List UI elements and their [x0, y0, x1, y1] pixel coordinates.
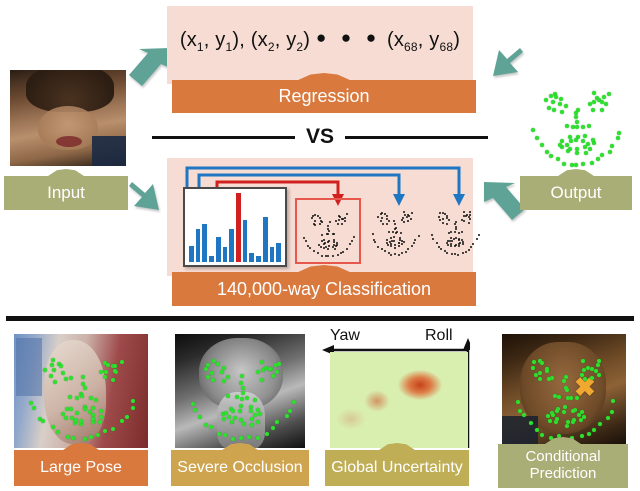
landmark-point — [407, 220, 409, 222]
landmark-point — [544, 98, 548, 102]
landmark-point — [401, 219, 403, 221]
landmark-point — [79, 419, 83, 423]
landmark-point — [131, 399, 135, 403]
landmark-point — [602, 95, 606, 99]
landmark-point — [75, 411, 79, 415]
landmark-point — [406, 216, 408, 218]
landmark-point — [341, 223, 343, 225]
landmark-point — [469, 214, 471, 216]
regression-label: Regression — [278, 86, 369, 107]
landmark-point — [411, 212, 413, 214]
landmark-point — [256, 408, 260, 412]
landmark-point — [584, 151, 588, 155]
landmark-point — [238, 409, 242, 413]
landmark-point — [570, 163, 574, 167]
arrow-regression-to-output-icon — [478, 44, 526, 96]
landmark-point — [342, 251, 344, 253]
landmark-point — [575, 125, 579, 129]
landmark-point — [468, 222, 470, 224]
histogram-bar — [263, 217, 268, 262]
landmark-point — [448, 219, 450, 221]
landmark-point — [469, 211, 471, 213]
landmark-point — [71, 436, 75, 440]
severe-occlusion-photo — [175, 334, 305, 448]
landmark-point — [198, 415, 202, 419]
landmark-point — [125, 415, 129, 419]
landmark-point — [94, 398, 98, 402]
landmark-point — [565, 424, 569, 428]
landmark-point — [549, 154, 553, 158]
landmark-point — [292, 400, 296, 404]
landmark-point — [596, 363, 600, 367]
landmark-point — [592, 91, 596, 95]
landmark-point — [574, 163, 578, 167]
formula-seg-e: ) — [303, 29, 310, 51]
landmark-point — [222, 366, 226, 370]
landmark-point — [50, 363, 54, 367]
landmark-point — [327, 255, 329, 257]
landmark-point — [598, 422, 602, 426]
landmark-point — [337, 254, 339, 256]
landmark-point — [377, 246, 379, 248]
landmark-point — [261, 368, 265, 372]
landmark-point — [337, 223, 339, 225]
landmark-point — [432, 238, 434, 240]
vs-rule-left — [152, 136, 295, 139]
landmark-point — [239, 418, 243, 422]
landmark-point — [111, 378, 115, 382]
landmark-point — [468, 249, 470, 251]
landmark-point — [390, 254, 392, 256]
landmark-point — [256, 370, 260, 374]
conditional-prediction-label-line2: Prediction — [526, 466, 601, 483]
landmark-point — [551, 100, 555, 104]
output-label: Output — [546, 183, 605, 202]
histogram-bar — [229, 229, 234, 262]
landmark-point — [83, 407, 87, 411]
landmark-point — [616, 136, 620, 140]
landmark-point — [319, 217, 321, 219]
landmark-point — [453, 238, 455, 240]
input-face-photo — [10, 70, 126, 166]
landmark-point — [381, 217, 383, 219]
landmark-point — [607, 92, 611, 96]
landmark-point — [41, 419, 45, 423]
histogram-bar — [236, 193, 241, 262]
landmark-point — [394, 223, 396, 225]
landmark-point — [83, 386, 87, 390]
landmark-point — [540, 143, 544, 147]
template-face-2 — [365, 198, 423, 260]
landmark-point — [353, 236, 355, 238]
landmark-point — [314, 220, 316, 222]
landmark-point — [458, 245, 460, 247]
histogram-bar — [249, 253, 254, 262]
landmark-point — [386, 242, 388, 244]
severe-occlusion-label: Severe Occlusion — [173, 459, 306, 477]
landmark-point — [455, 237, 457, 239]
landmark-point — [275, 370, 279, 374]
landmark-point — [556, 157, 560, 161]
landmark-point — [458, 232, 460, 234]
landmark-point — [333, 233, 335, 235]
landmark-point — [388, 231, 390, 233]
landmark-point — [393, 240, 395, 242]
landmark-point — [226, 375, 230, 379]
landmark-point — [565, 143, 569, 147]
landmark-point — [610, 410, 614, 414]
landmark-point — [604, 102, 608, 106]
conditional-prediction-photo: ✖ — [502, 334, 626, 448]
landmark-point — [583, 145, 587, 149]
landmark-point — [617, 131, 621, 135]
landmark-point — [288, 409, 292, 413]
landmark-point — [540, 433, 544, 437]
landmark-point — [103, 429, 107, 433]
landmark-point — [606, 416, 610, 420]
landmark-point — [587, 124, 591, 128]
landmark-point — [96, 433, 100, 437]
histogram-bar — [270, 247, 275, 262]
landmark-point — [465, 251, 467, 253]
landmark-point — [239, 436, 243, 440]
landmark-point — [574, 115, 578, 119]
landmark-point — [384, 250, 386, 252]
landmark-point — [575, 151, 579, 155]
formula-seg-d: , y — [275, 29, 297, 51]
landmark-point — [390, 237, 392, 239]
landmark-point — [103, 375, 107, 379]
landmark-point — [388, 220, 390, 222]
landmark-point — [222, 417, 226, 421]
landmark-point — [431, 234, 433, 236]
landmark-point — [454, 223, 456, 225]
landmark-point — [317, 252, 319, 254]
landmark-point — [285, 414, 289, 418]
landmark-point — [392, 231, 394, 233]
landmark-point — [98, 420, 102, 424]
landmark-point — [571, 409, 575, 413]
landmark-point — [256, 420, 260, 424]
landmark-point — [113, 369, 117, 373]
landmark-point — [418, 235, 420, 237]
landmark-point — [446, 252, 448, 254]
landmark-point — [470, 246, 472, 248]
landmark-point — [69, 376, 73, 380]
landmark-point — [455, 228, 457, 230]
landmark-point — [458, 239, 460, 241]
landmark-point — [346, 248, 348, 250]
landmark-point — [75, 396, 79, 400]
landmark-point — [321, 255, 323, 257]
landmark-point — [328, 230, 330, 232]
probability-histogram — [183, 187, 287, 267]
landmark-point — [305, 240, 307, 242]
landmark-point — [344, 217, 346, 219]
landmark-point — [398, 245, 400, 247]
landmark-point — [386, 223, 388, 225]
regression-banner: Regression — [172, 80, 476, 113]
landmark-point — [393, 236, 395, 238]
landmark-point — [577, 413, 581, 417]
landmark-point — [558, 143, 562, 147]
landmark-point — [377, 216, 379, 218]
landmark-point — [594, 369, 598, 373]
landmark-point — [560, 139, 564, 143]
landmark-point — [516, 400, 520, 404]
landmark-point — [394, 253, 396, 255]
landmark-point — [446, 242, 448, 244]
landmark-point — [559, 97, 563, 101]
landmark-point — [463, 211, 465, 213]
landmark-point — [386, 215, 388, 217]
landmark-point — [463, 220, 465, 222]
vs-rule-right — [345, 136, 488, 139]
landmark-point — [230, 420, 234, 424]
landmark-point — [472, 243, 474, 245]
landmark-point — [518, 409, 522, 413]
formula-seg-b: , y — [204, 29, 226, 51]
landmark-point — [442, 222, 444, 224]
landmark-point — [204, 367, 208, 371]
landmark-point — [52, 368, 56, 372]
landmark-point — [209, 425, 213, 429]
landmark-point — [451, 240, 453, 242]
formula-sub-68: 68 — [404, 40, 418, 54]
histogram-bar — [196, 229, 201, 262]
landmark-point — [53, 380, 57, 384]
landmark-point — [531, 366, 535, 370]
landmark-point — [324, 242, 326, 244]
landmark-point — [450, 231, 452, 233]
landmark-point — [231, 409, 235, 413]
landmark-point — [372, 233, 374, 235]
landmark-point — [592, 428, 596, 432]
landmark-point — [320, 246, 322, 248]
landmark-point — [49, 374, 53, 378]
landmark-point — [309, 247, 311, 249]
landmark-point — [545, 150, 549, 154]
landmark-point — [401, 252, 403, 254]
landmark-point — [478, 234, 480, 236]
landmark-point — [265, 432, 269, 436]
landmark-point — [247, 435, 251, 439]
vs-separator: VS — [152, 126, 488, 148]
formula-sub-1: 1 — [197, 40, 204, 54]
histogram-bar — [276, 243, 281, 262]
landmark-point — [32, 406, 36, 410]
landmark-point — [338, 219, 340, 221]
landmark-point — [436, 242, 438, 244]
landmark-point — [461, 231, 463, 233]
landmark-point — [314, 224, 316, 226]
landmark-point — [386, 239, 388, 241]
landmark-point — [351, 240, 353, 242]
landmark-point — [581, 162, 585, 166]
section-divider — [6, 316, 634, 321]
conditional-prediction-caption: Conditional Prediction — [498, 444, 628, 488]
landmark-point — [346, 213, 348, 215]
landmark-point — [450, 245, 452, 247]
landmark-point — [319, 223, 321, 225]
landmark-point — [535, 136, 539, 140]
landmark-point — [535, 428, 539, 432]
landmark-point — [131, 406, 135, 410]
histogram-bars — [189, 193, 281, 262]
landmark-point — [320, 220, 322, 222]
landmark-point — [318, 244, 320, 246]
landmark-point — [549, 94, 553, 98]
landmark-point — [575, 120, 579, 124]
formula-sub-2: 2 — [268, 40, 275, 54]
landmark-point — [600, 108, 604, 112]
input-caption: Input — [4, 176, 128, 210]
landmark-point — [111, 427, 115, 431]
landmark-point — [408, 215, 410, 217]
landmark-point — [61, 371, 65, 375]
landmark-point — [206, 363, 210, 367]
landmark-point — [411, 245, 413, 247]
input-label: Input — [43, 183, 89, 202]
output-caption: Output — [520, 176, 632, 210]
landmark-point — [59, 364, 63, 368]
landmark-point — [332, 246, 334, 248]
landmark-point — [104, 370, 108, 374]
landmark-point — [469, 218, 471, 220]
landmark-point — [321, 234, 323, 236]
landmark-point — [106, 363, 110, 367]
landmark-point — [413, 242, 415, 244]
landmark-point — [446, 217, 448, 219]
landmark-point — [450, 243, 452, 245]
landmark-point — [588, 147, 592, 151]
landmark-point — [401, 243, 403, 245]
landmark-point — [70, 416, 74, 420]
landmark-point — [231, 437, 235, 441]
landmark-point — [600, 100, 604, 104]
landmark-point — [586, 142, 590, 146]
landmark-point — [303, 237, 305, 239]
landmark-point — [569, 139, 573, 143]
classification-label: 140,000-way Classification — [217, 279, 431, 300]
landmark-point — [191, 402, 195, 406]
landmark-point — [66, 435, 70, 439]
landmark-point — [611, 399, 615, 403]
landmark-point — [239, 381, 243, 385]
landmark-point — [587, 432, 591, 436]
landmark-point — [590, 161, 594, 165]
landmark-point — [275, 420, 279, 424]
landmark-point — [454, 231, 456, 233]
landmark-point — [394, 247, 396, 249]
landmark-point — [253, 398, 257, 402]
landmark-point — [447, 244, 449, 246]
landmark-point — [387, 244, 389, 246]
landmark-point — [565, 124, 569, 128]
landmark-point — [313, 250, 315, 252]
landmark-point — [390, 245, 392, 247]
landmark-point — [193, 408, 197, 412]
landmark-point — [548, 419, 552, 423]
landmark-point — [458, 243, 460, 245]
landmark-point — [581, 139, 585, 143]
landmark-point — [562, 162, 566, 166]
landmark-point — [91, 413, 95, 417]
large-pose-label: Large Pose — [36, 459, 126, 477]
histogram-bar — [243, 220, 248, 262]
landmark-point — [575, 147, 579, 151]
landmark-point — [217, 432, 221, 436]
landmark-point — [314, 214, 316, 216]
landmark-point — [547, 106, 551, 110]
landmark-point — [407, 248, 409, 250]
landmark-point — [120, 419, 124, 423]
landmark-point — [380, 220, 382, 222]
landmark-point — [393, 220, 395, 222]
landmark-point — [328, 245, 330, 247]
landmark-point — [250, 423, 254, 427]
landmark-point — [568, 147, 572, 151]
landmark-point — [349, 243, 351, 245]
landmark-point — [386, 218, 388, 220]
landmark-point — [568, 135, 572, 139]
formula-tail-a: (x — [387, 29, 404, 51]
landmark-point — [608, 150, 612, 154]
landmark-point — [532, 360, 536, 364]
landmark-point — [329, 221, 331, 223]
landmark-point — [43, 368, 47, 372]
landmark-point — [582, 368, 586, 372]
formula-sub-68b: 68 — [440, 40, 454, 54]
landmark-point — [438, 216, 440, 218]
landmark-point — [327, 233, 329, 235]
landmark-point — [388, 252, 390, 254]
conditional-prediction-label-line1: Conditional — [521, 449, 604, 466]
landmark-point — [235, 395, 239, 399]
histogram-bar — [256, 256, 261, 262]
template-face-selected — [295, 198, 361, 264]
landmark-point — [120, 360, 124, 364]
landmark-point — [580, 434, 584, 438]
landmark-point — [381, 248, 383, 250]
formula-head: (x — [180, 29, 197, 51]
histogram-bar — [216, 237, 221, 262]
histogram-bar — [189, 246, 194, 262]
landmark-point — [394, 244, 396, 246]
landmark-point — [398, 242, 400, 244]
template-face-3 — [425, 198, 483, 260]
landmark-point — [572, 418, 576, 422]
global-uncertainty-heatmap — [330, 352, 468, 448]
landmark-point — [410, 218, 412, 220]
landmark-point — [610, 144, 614, 148]
landmark-point — [227, 415, 231, 419]
global-uncertainty-label: Global Uncertainty — [327, 459, 467, 477]
landmark-point — [403, 221, 405, 223]
landmark-point — [592, 100, 596, 104]
landmark-point — [440, 248, 442, 250]
landmark-point — [260, 378, 264, 382]
landmark-point — [334, 248, 336, 250]
landmark-point — [444, 213, 446, 215]
landmark-point — [565, 388, 569, 392]
landmark-point — [566, 420, 570, 424]
landmark-point — [414, 239, 416, 241]
landmark-point — [403, 241, 405, 243]
landmark-point — [91, 406, 95, 410]
landmark-point — [402, 217, 404, 219]
landmark-point — [239, 404, 243, 408]
